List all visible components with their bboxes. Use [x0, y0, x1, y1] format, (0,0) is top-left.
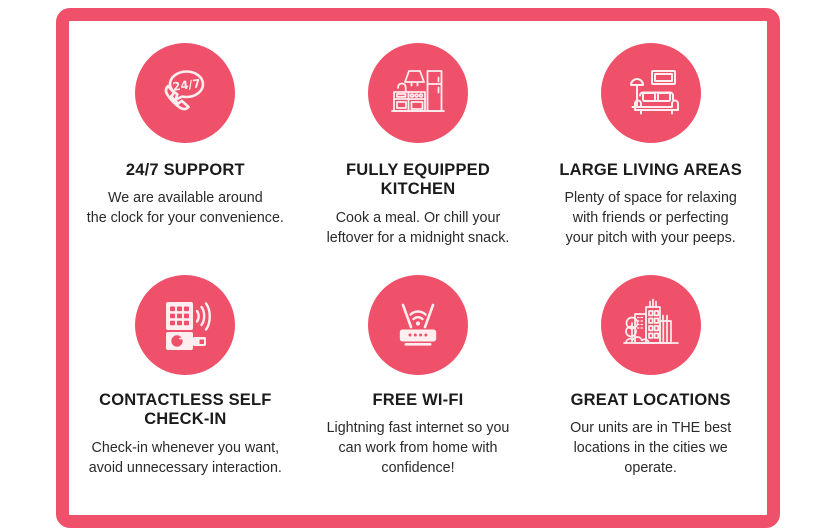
feature-card-large-living-areas: LARGE LIVING AREAS Plenty of space for r… [534, 21, 767, 253]
keypad-smart-lock-icon [135, 275, 235, 375]
feature-description: Check-in whenever you want, avoid unnece… [89, 439, 282, 478]
feature-card-great-locations: GREAT LOCATIONS Our units are in THE bes… [534, 253, 767, 485]
feature-title: 24/7 SUPPORT [126, 161, 245, 180]
feature-title: FULLY EQUIPPED KITCHEN [346, 161, 490, 200]
feature-description: Our units are in THE best locations in t… [570, 419, 731, 478]
phone-24-7-icon: 24/7 [135, 43, 235, 143]
feature-title: GREAT LOCATIONS [571, 391, 731, 410]
feature-poster: 24/7 24/7 SUPPORT We are available aroun… [0, 0, 840, 460]
living-room-sofa-icon [601, 43, 701, 143]
feature-card-free-wifi: FREE WI-FI Lightning fast internet so yo… [302, 253, 535, 485]
feature-title: LARGE LIVING AREAS [559, 161, 742, 180]
svg-text:24/7: 24/7 [172, 76, 202, 94]
feature-description: We are available around the clock for yo… [87, 189, 284, 228]
feature-description: Plenty of space for relaxing with friend… [564, 189, 736, 248]
feature-card-contactless-self-check-in: CONTACTLESS SELF CHECK-IN Check-in whene… [69, 253, 302, 485]
city-buildings-icon [601, 275, 701, 375]
feature-description: Lightning fast internet so you can work … [327, 419, 510, 478]
feature-card-24-7-support: 24/7 24/7 SUPPORT We are available aroun… [69, 21, 302, 253]
feature-title: CONTACTLESS SELF CHECK-IN [99, 391, 271, 430]
feature-card-fully-equipped-kitchen: FULLY EQUIPPED KITCHEN Cook a meal. Or c… [302, 21, 535, 253]
feature-grid: 24/7 24/7 SUPPORT We are available aroun… [69, 21, 767, 460]
wifi-router-icon [368, 275, 468, 375]
feature-title: FREE WI-FI [373, 391, 464, 410]
feature-description: Cook a meal. Or chill your leftover for … [327, 209, 510, 248]
kitchen-icon [368, 43, 468, 143]
